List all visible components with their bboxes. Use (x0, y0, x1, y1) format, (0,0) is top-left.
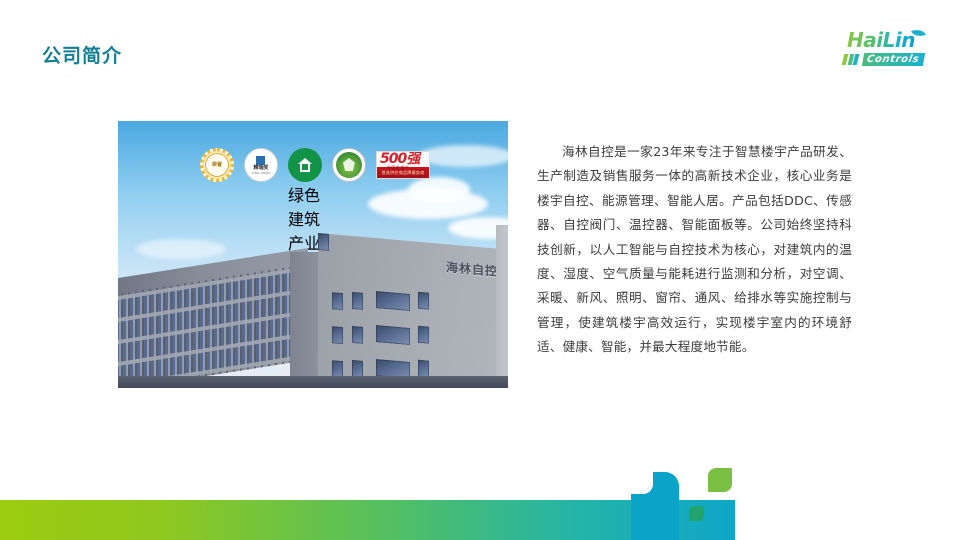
window (352, 292, 363, 310)
window (418, 292, 429, 310)
trusted-brand-badge-label: 精瑞奖 (253, 166, 268, 171)
certification-badge-row: 荣誉 精瑞奖 CHINA AWARD 绿色建筑产业认证 (200, 148, 430, 182)
logo-wordmark: HaiLin (847, 29, 915, 51)
bottom-hook-notch (631, 472, 653, 494)
quatrefoil-icon (256, 156, 265, 165)
brand-logo: HaiLin Controls (843, 29, 953, 71)
company-building-photo: 荣誉 精瑞奖 CHINA AWARD 绿色建筑产业认证 (118, 121, 508, 388)
gold-award-badge-label: 荣誉 (205, 153, 229, 177)
decorative-square-teal (689, 506, 704, 521)
window (318, 233, 329, 251)
logo-subtitle-group: Controls (843, 52, 924, 66)
trusted-brand-badge: 精瑞奖 CHINA AWARD (244, 148, 278, 182)
window (376, 325, 410, 345)
window (352, 326, 363, 344)
floor-bands (118, 249, 304, 388)
green-building-badge: 绿色建筑产业认证 (288, 148, 322, 182)
ground-strip (118, 376, 508, 388)
window (418, 326, 429, 344)
building-right-wing: 海林自控 (318, 233, 508, 388)
page-title: 公司简介 (42, 41, 122, 68)
globe-leaf-icon (336, 152, 362, 178)
company-description-paragraph: 海林自控是一家23年来专注于智慧楼宇产品研发、生产制造及销售服务一体的高新技术企… (537, 140, 852, 360)
building-far-right-edge (496, 225, 508, 388)
cloud-shape (136, 239, 226, 259)
window (332, 292, 343, 310)
trusted-brand-badge-sub: CHINA AWARD (252, 172, 271, 175)
cloud-shape (418, 145, 508, 167)
top-500-badge: 500强 中国房地产 首选供应商品牌服务商 (376, 151, 430, 179)
decorative-square-green (708, 468, 732, 492)
slide-canvas: 公司简介 HaiLin Controls 荣誉 (0, 0, 960, 540)
cloud-shape (368, 189, 488, 219)
eco-product-badge (332, 148, 366, 182)
window (332, 326, 343, 344)
house-icon (298, 158, 313, 172)
building-sign-text: 海林自控 (446, 258, 498, 280)
gold-award-badge: 荣誉 (200, 148, 234, 182)
logo-subtitle: Controls (861, 53, 924, 66)
window (376, 291, 410, 311)
top-500-badge-sub2: 首选供应商品牌服务商 (381, 170, 425, 175)
building-left-wing (118, 248, 308, 388)
bottom-gradient-bar (0, 500, 735, 540)
